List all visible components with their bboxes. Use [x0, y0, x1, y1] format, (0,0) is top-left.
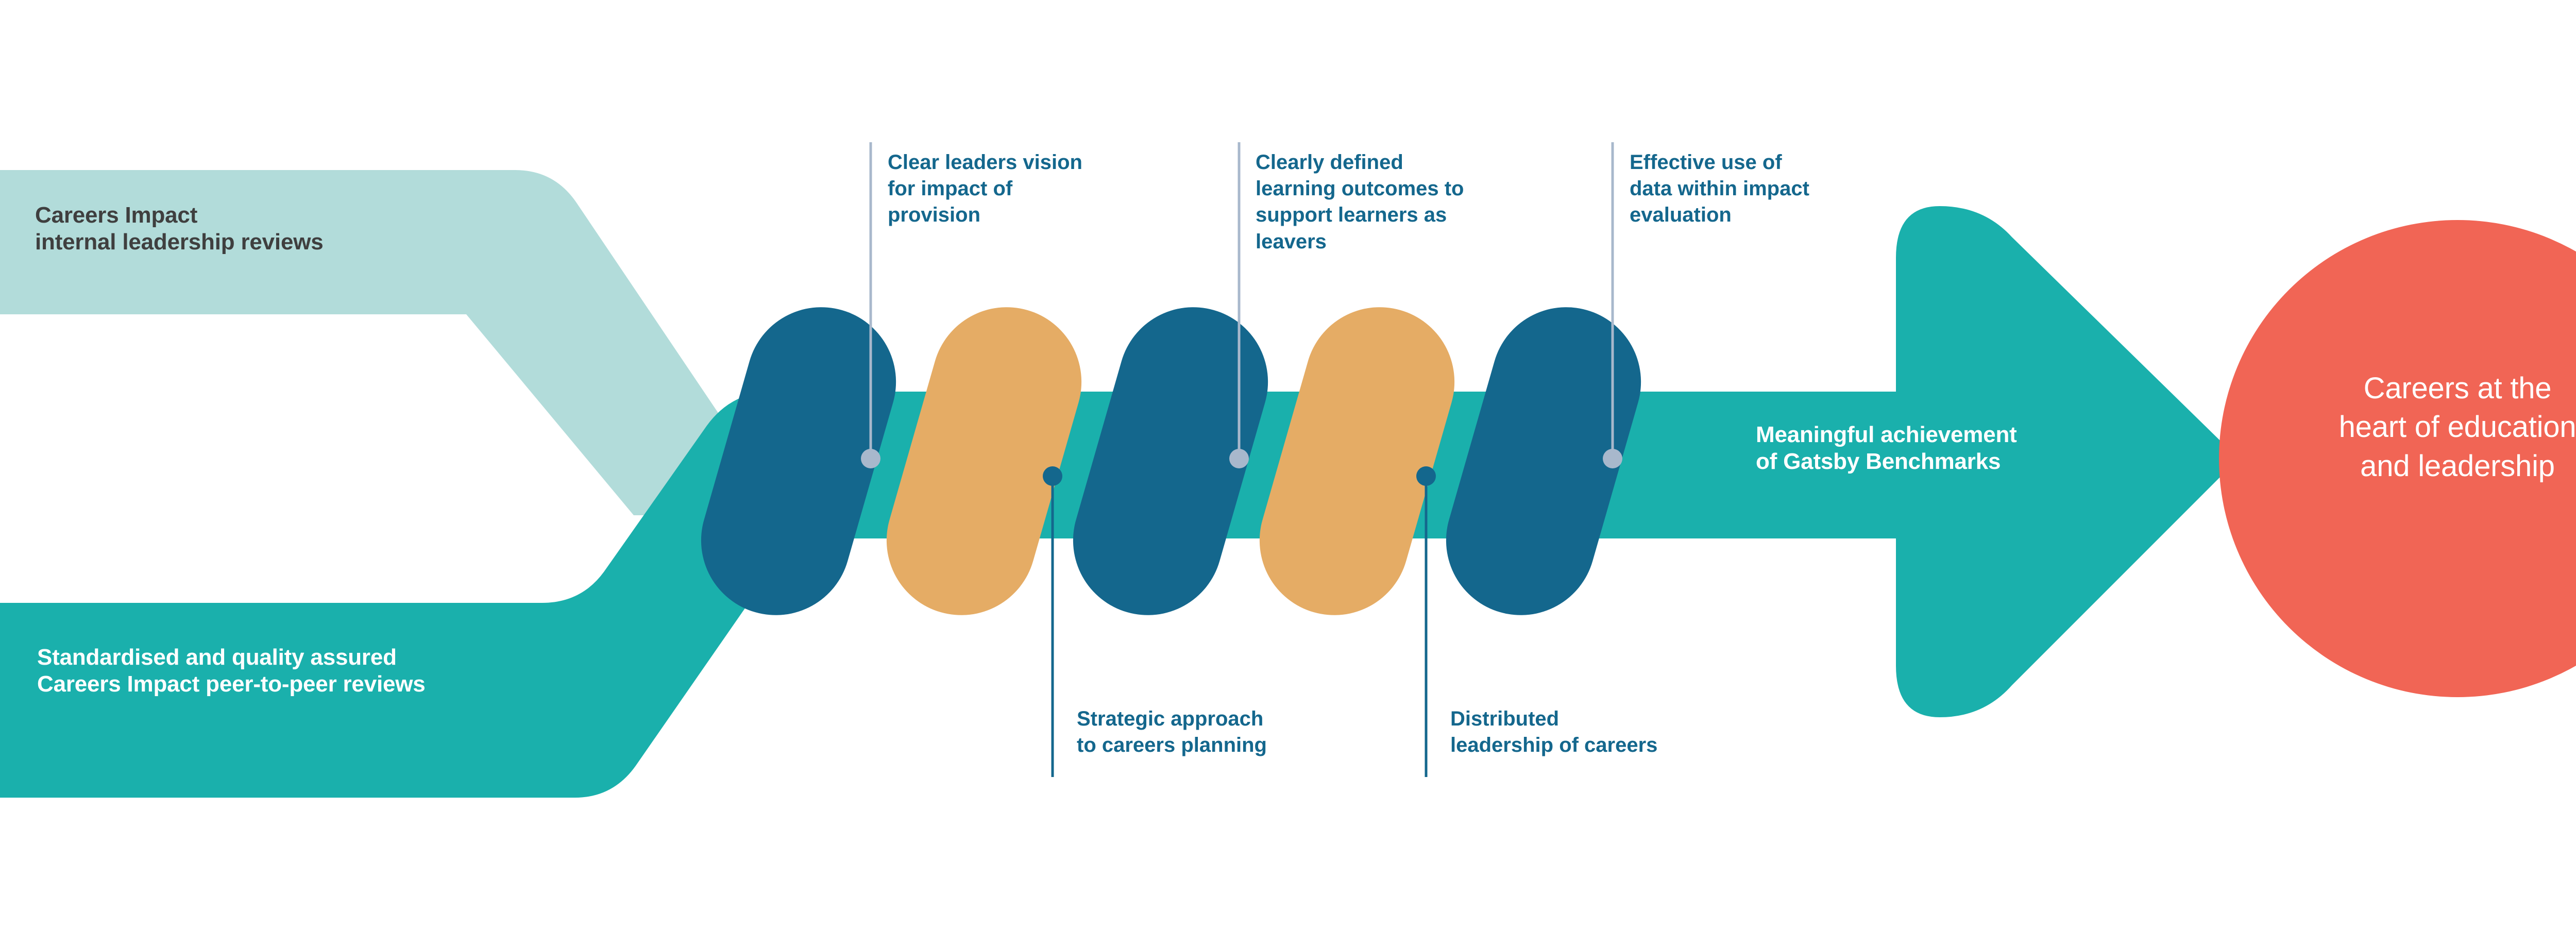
input-label-peer-reviews: Standardised and quality assured Careers…: [37, 644, 604, 698]
infographic-canvas: Careers Impact internal leadership revie…: [0, 0, 2576, 928]
arrow-label-gatsby-benchmarks: Meaningful achievement of Gatsby Benchma…: [1756, 421, 2219, 475]
callout-label-strategic-approach: Strategic approach to careers planning: [1077, 706, 1396, 758]
callout-label-distributed-leadership: Distributed leadership of careers: [1450, 706, 1770, 758]
callout-label-clear-leaders-vision: Clear leaders vision for impact of provi…: [888, 149, 1207, 229]
callout-label-clearly-defined-learning-outcomes: Clearly defined learning outcomes to sup…: [1256, 149, 1575, 255]
outcome-label-careers-at-heart: Careers at the heart of education and le…: [2257, 369, 2576, 485]
input-label-internal-reviews: Careers Impact internal leadership revie…: [35, 202, 499, 256]
callout-label-effective-use-of-data: Effective use of data within impact eval…: [1630, 149, 1949, 229]
